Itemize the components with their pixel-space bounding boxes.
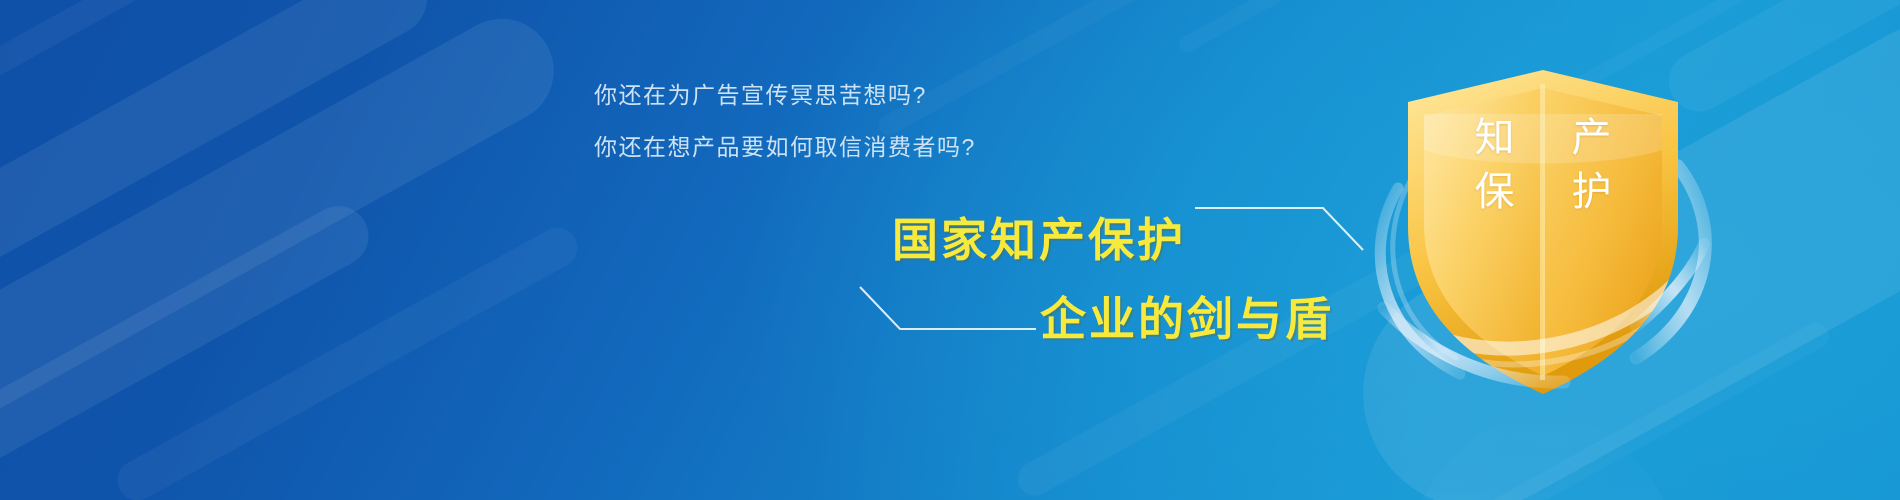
- headline-line-2: 企业的剑与盾: [1040, 283, 1334, 349]
- subhead-line-1: 你还在为广告宣传冥思苦想吗?: [594, 76, 927, 110]
- ip-protection-banner: 你还在为广告宣传冥思苦想吗? 你还在想产品要如何取信消费者吗? 国家知产保护 企…: [0, 0, 1900, 500]
- bracket-line-bottom-icon: [858, 285, 1038, 337]
- subhead-line-2: 你还在想产品要如何取信消费者吗?: [594, 128, 976, 162]
- shield-label: 知 产 保 护: [1455, 118, 1631, 212]
- shield-char-3: 保: [1455, 172, 1534, 212]
- shield-char-2: 产: [1552, 118, 1631, 158]
- shield-char-4: 护: [1552, 172, 1631, 212]
- shield-char-1: 知: [1455, 118, 1534, 158]
- shield-emblem: [1378, 58, 1708, 448]
- bracket-line-top-icon: [1195, 200, 1365, 252]
- headline-line-1: 国家知产保护: [892, 204, 1186, 270]
- shield-icon: [1378, 58, 1708, 448]
